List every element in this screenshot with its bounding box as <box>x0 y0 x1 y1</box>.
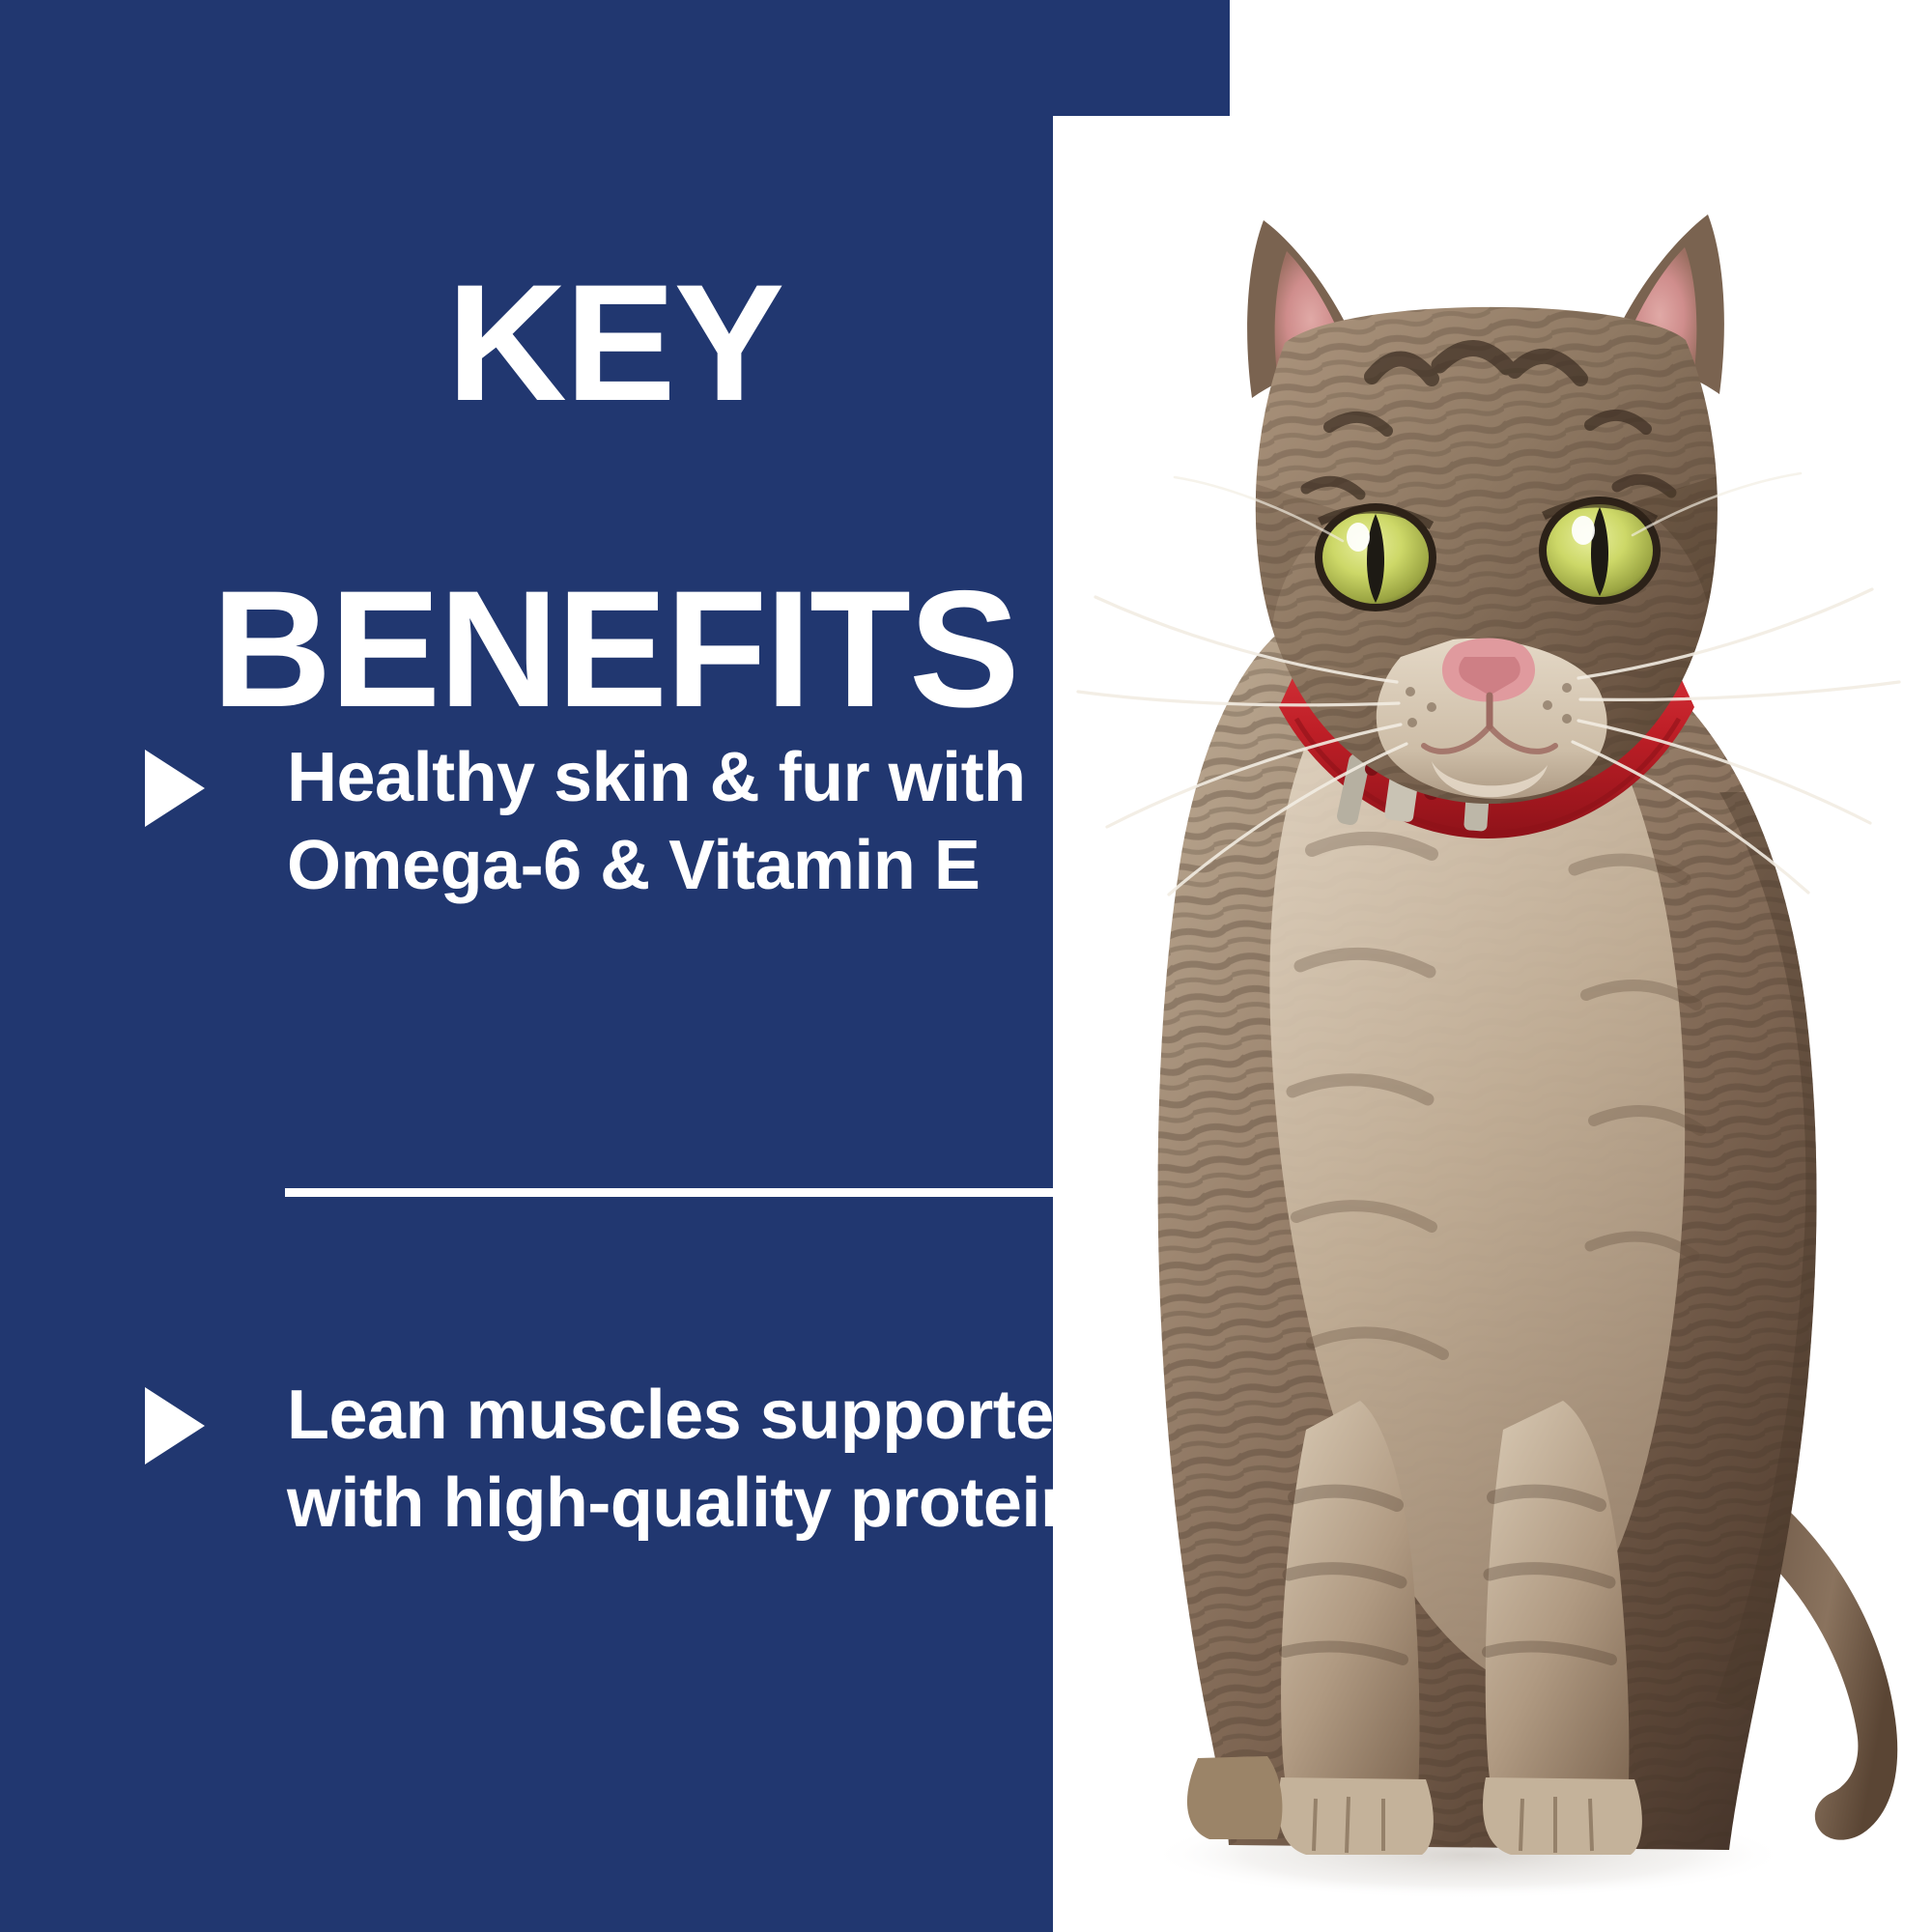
page-title-line-1: KEY <box>0 267 1230 419</box>
benefit-item-1: Healthy skin & fur with Omega-6 & Vitami… <box>145 734 1169 909</box>
triangle-right-icon <box>145 750 205 827</box>
benefit-item-1-label: Healthy skin & fur with Omega-6 & Vitami… <box>287 734 1169 909</box>
key-benefits-panel: KEY BENEFITS Healthy skin & fur with Ome… <box>0 0 1932 1932</box>
cat-illustration <box>1053 116 1932 1932</box>
benefit-item-2: Lean muscles supported with high-quality… <box>145 1372 1169 1547</box>
benefit-divider <box>285 1188 1114 1197</box>
triangle-right-icon <box>145 1387 205 1464</box>
cat-photo <box>1053 116 1932 1932</box>
benefit-item-2-label: Lean muscles supported with high-quality… <box>287 1372 1169 1547</box>
page-title-line-2: BENEFITS <box>0 573 1230 725</box>
